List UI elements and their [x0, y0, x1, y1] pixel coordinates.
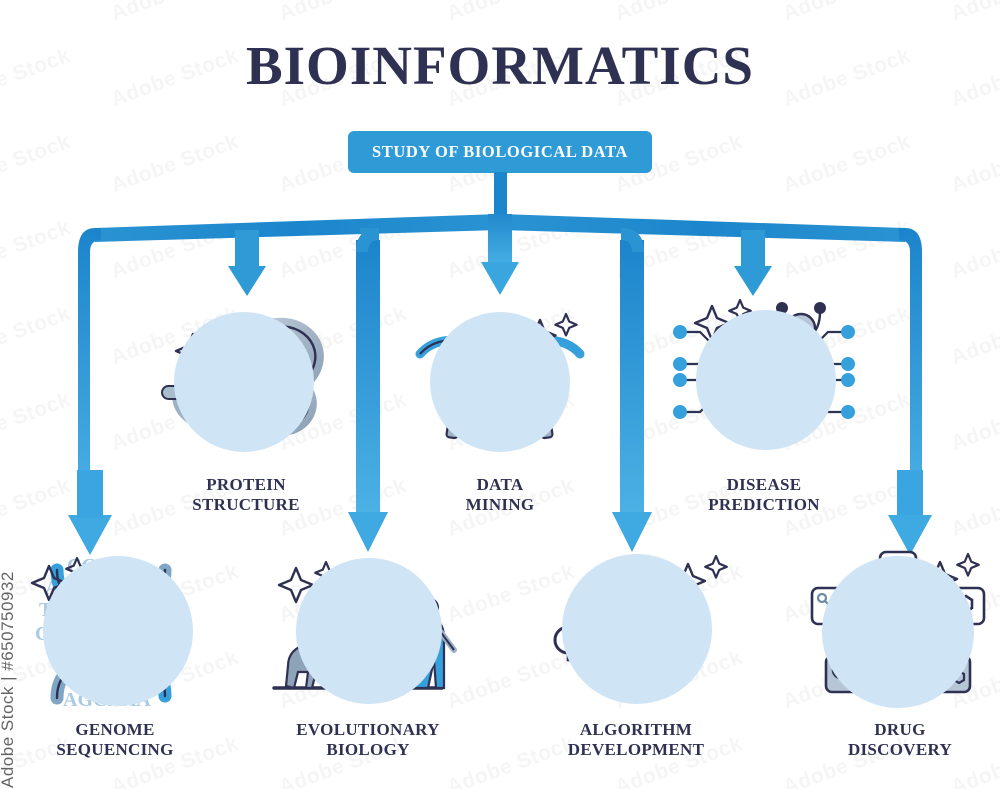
- disease-prediction-art: [664, 278, 864, 473]
- data-mining-art: [400, 298, 600, 473]
- node-algorithm-development[interactable]: ALGORITHM DEVELOPMENT: [536, 548, 736, 760]
- icon-backdrop: [174, 312, 314, 452]
- node-data-mining[interactable]: DATA MINING: [400, 298, 600, 515]
- branch-disease-body: [741, 230, 765, 270]
- bar-left: [95, 214, 500, 242]
- stem-segment: [494, 172, 507, 220]
- evolutionary-biology-art: [268, 548, 468, 718]
- node-label-line1: DRUG: [874, 720, 925, 739]
- icon-backdrop: [430, 312, 570, 452]
- node-label-line2: SEQUENCING: [15, 740, 215, 760]
- node-label: DATA MINING: [400, 475, 600, 515]
- protein-structure-art: [146, 298, 346, 473]
- node-label: GENOME SEQUENCING: [15, 720, 215, 760]
- node-evolutionary-biology[interactable]: EVOLUTIONARY BIOLOGY: [268, 548, 468, 760]
- node-label-line2: MINING: [400, 495, 600, 515]
- node-label: ALGORITHM DEVELOPMENT: [536, 720, 736, 760]
- node-label-line1: EVOLUTIONARY: [296, 720, 439, 739]
- branch-far-left-lower: [77, 470, 103, 518]
- circuit-node: [841, 325, 855, 419]
- branch-protein-body: [235, 230, 259, 270]
- genome-sequencing-art: CCTC ATAGTGC TCACT CCATG CCAG TGTGAGC TA…: [15, 548, 215, 718]
- icon-backdrop: [296, 558, 442, 704]
- icon-backdrop: [696, 310, 836, 450]
- node-label-line2: STRUCTURE: [146, 495, 346, 515]
- node-disease-prediction[interactable]: DISEASE PREDICTION: [664, 278, 864, 515]
- node-label: EVOLUTIONARY BIOLOGY: [268, 720, 468, 760]
- node-drug-discovery[interactable]: DRUG DISCOVERY: [800, 548, 1000, 760]
- infographic-canvas: Adobe StockAdobe StockAdobe StockAdobe S…: [0, 0, 1000, 789]
- node-label: PROTEIN STRUCTURE: [146, 475, 346, 515]
- bar-right: [500, 214, 905, 242]
- node-label-line2: DISCOVERY: [800, 740, 1000, 760]
- node-label-line2: DEVELOPMENT: [536, 740, 736, 760]
- stock-watermark-label: Adobe Stock | #650750932: [0, 571, 18, 788]
- node-label: DISEASE PREDICTION: [664, 475, 864, 515]
- algorithm-development-art: [536, 548, 736, 718]
- arrowhead-algorithm: [612, 512, 652, 552]
- node-label-line1: ALGORITHM: [580, 720, 692, 739]
- icon-backdrop: [43, 556, 193, 706]
- arrowhead-protein: [228, 266, 266, 296]
- branch-evolutionary: [356, 240, 380, 520]
- icon-backdrop: [562, 554, 712, 704]
- node-label-line2: BIOLOGY: [268, 740, 468, 760]
- arrowhead-evolutionary: [348, 512, 388, 552]
- icon-backdrop: [822, 556, 974, 708]
- node-protein-structure[interactable]: PROTEIN STRUCTURE: [146, 298, 346, 515]
- branch-far-right-lower: [897, 470, 923, 518]
- branch-algorithm: [620, 240, 644, 520]
- arrowhead-data-mining: [481, 262, 519, 295]
- node-label-line1: GENOME: [75, 720, 154, 739]
- node-label-line1: DATA: [477, 475, 524, 494]
- branch-data-mining: [488, 214, 512, 266]
- drug-discovery-art: [800, 548, 1000, 718]
- node-label-line2: PREDICTION: [664, 495, 864, 515]
- node-label-line1: DISEASE: [727, 475, 802, 494]
- node-label-line1: PROTEIN: [206, 475, 286, 494]
- circuit-node: [673, 325, 687, 419]
- node-label: DRUG DISCOVERY: [800, 720, 1000, 760]
- node-genome-sequencing[interactable]: CCTC ATAGTGC TCACT CCATG CCAG TGTGAGC TA…: [15, 548, 215, 760]
